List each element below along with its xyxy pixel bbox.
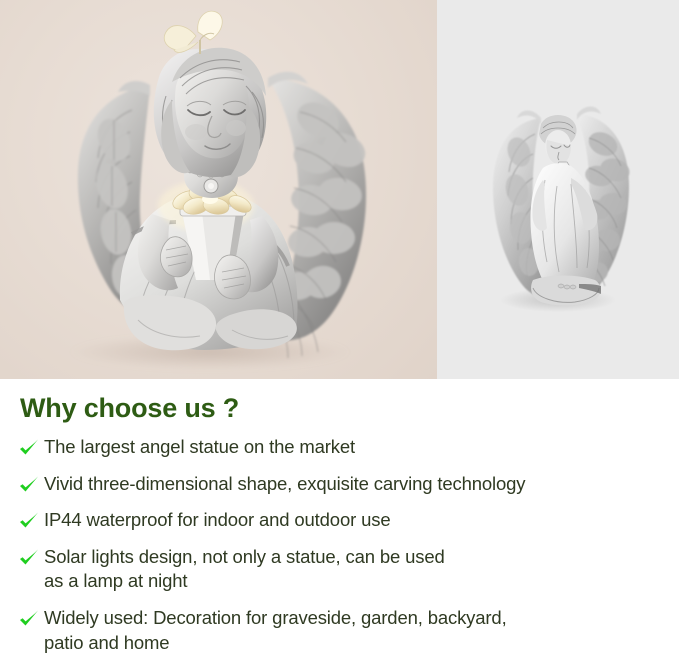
list-item-label: Vivid three-dimensional shape, exquisite… xyxy=(44,472,679,497)
why-choose-us-section: Why choose us ? The largest angel statue… xyxy=(0,379,679,669)
cherub-statue-svg xyxy=(0,0,437,379)
list-item: IP44 waterproof for indoor and outdoor u… xyxy=(0,508,679,533)
product-image-gallery xyxy=(0,0,679,379)
check-icon xyxy=(18,511,44,531)
check-icon xyxy=(18,609,44,629)
feature-list: The largest angel statue on the market V… xyxy=(0,435,679,667)
list-item-label: The largest angel statue on the market xyxy=(44,435,679,460)
list-item: Vivid three-dimensional shape, exquisite… xyxy=(0,472,679,497)
list-item: The largest angel statue on the market xyxy=(0,435,679,460)
list-item-label: Solar lights design, not only a statue, … xyxy=(44,545,679,594)
page-title: Why choose us ? xyxy=(20,393,239,424)
list-item-label: Widely used: Decoration for graveside, g… xyxy=(44,606,679,655)
cherub-statue-illustration xyxy=(0,0,437,379)
praying-angel-statue-photo xyxy=(437,0,679,379)
angel-cherub-with-solar-flower-photo xyxy=(0,0,437,379)
check-icon xyxy=(18,438,44,458)
list-item: Widely used: Decoration for graveside, g… xyxy=(0,606,679,655)
check-icon xyxy=(18,548,44,568)
list-item: Solar lights design, not only a statue, … xyxy=(0,545,679,594)
list-item-label: IP44 waterproof for indoor and outdoor u… xyxy=(44,508,679,533)
product-feature-page: Why choose us ? The largest angel statue… xyxy=(0,0,679,669)
praying-angel-statue-svg xyxy=(437,0,679,379)
check-icon xyxy=(18,475,44,495)
